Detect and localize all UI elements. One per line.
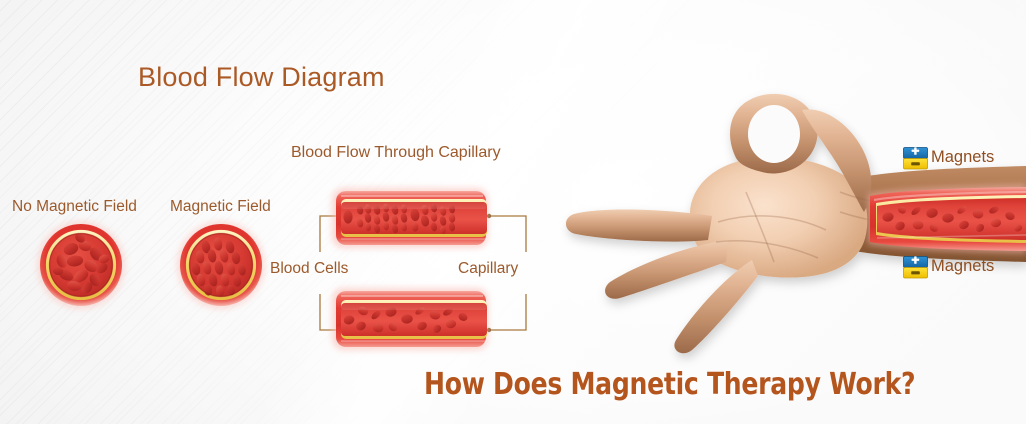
ring-finger	[605, 240, 728, 299]
cross-section-circle-magnetic-field	[170, 214, 272, 316]
magnets-label-bottom: Magnets	[931, 257, 994, 276]
label-blood-cells: Blood Cells	[270, 260, 348, 278]
banner-canvas: Blood Flow Diagram No Magnetic Field Mag…	[0, 0, 1026, 424]
magnet-badge-bottom-icon	[903, 256, 928, 279]
cross-section-circle-no-magnetic-field	[30, 214, 132, 316]
main-headline: How Does Magnetic Therapy Work?	[424, 367, 915, 402]
magnets-label-top: Magnets	[931, 148, 994, 167]
capillary-tube-bottom	[327, 282, 493, 356]
ok-ring-hole	[748, 105, 800, 163]
magnet-badge-top-icon	[903, 147, 928, 170]
capillary-section-title: Blood Flow Through Capillary	[291, 144, 501, 162]
label-capillary: Capillary	[458, 260, 518, 278]
capillary-tube-top	[327, 182, 493, 254]
page-title: Blood Flow Diagram	[138, 62, 385, 93]
forearm-capillary-overlay	[866, 180, 1026, 262]
middle-finger	[566, 210, 712, 242]
